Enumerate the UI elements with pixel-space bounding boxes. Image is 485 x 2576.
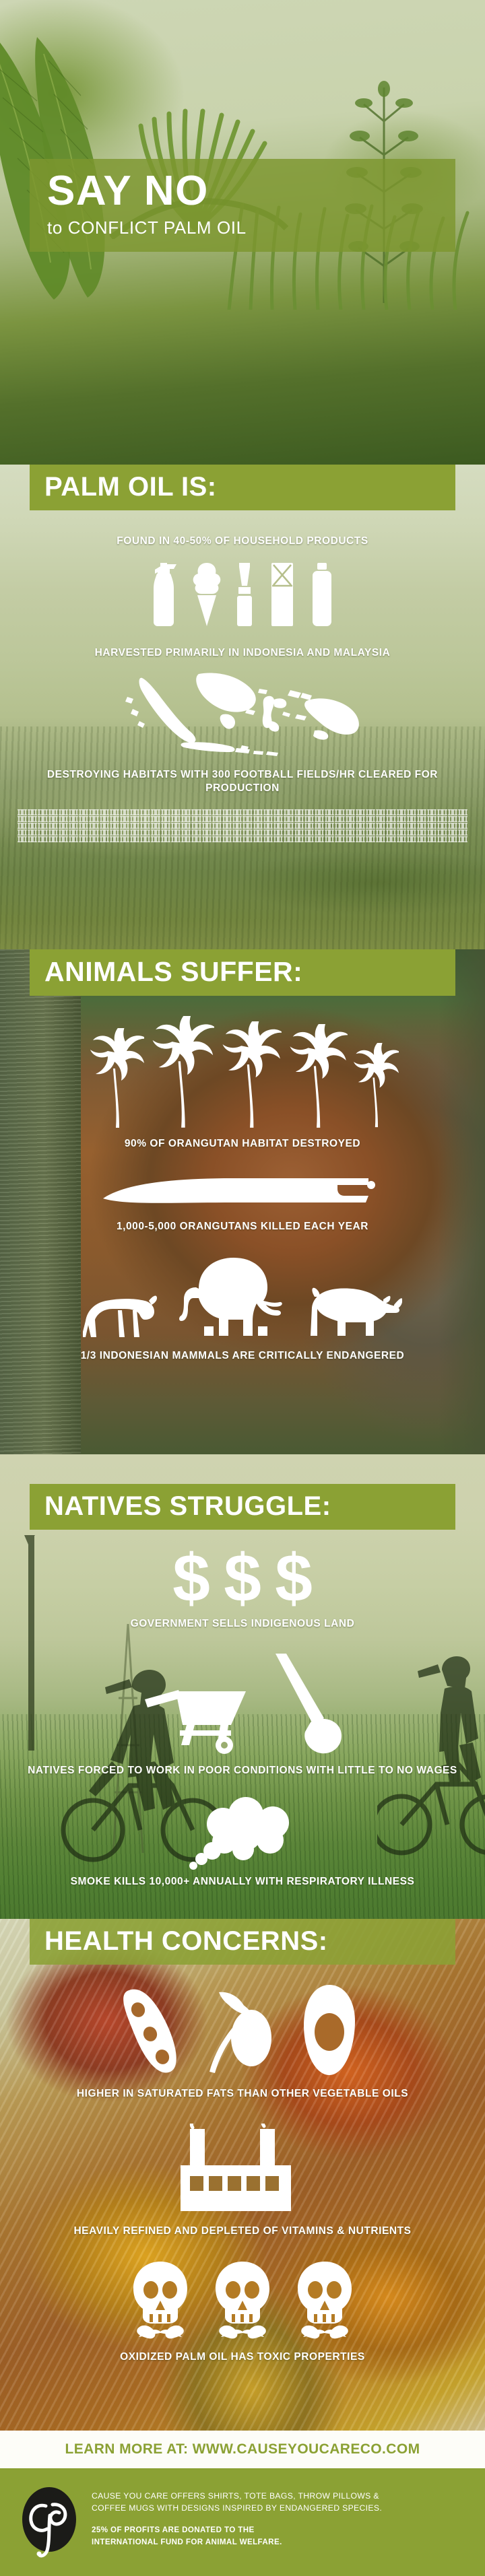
football-field-cell <box>273 816 283 822</box>
icon-row-palm-trees <box>0 1016 485 1129</box>
football-field-cell <box>437 809 447 815</box>
icon-row-dollar-signs: $ $ $ <box>0 1546 485 1611</box>
football-field-cell <box>356 816 365 822</box>
football-field-cell <box>458 809 467 815</box>
football-field-cell <box>130 836 139 842</box>
football-field-cell <box>191 816 201 822</box>
football-field-cell <box>140 816 150 822</box>
section-natives-struggle: NATIVES STRUGGLE: $ $ $ GOVERNMENT SELLS… <box>0 1454 485 1919</box>
football-field-cell <box>448 823 457 829</box>
shampoo-bottle-icon <box>309 563 335 628</box>
hero-subtitle: to CONFLICT PALM OIL <box>47 217 455 238</box>
machete-icon <box>98 1172 387 1209</box>
football-field-cell <box>294 816 304 822</box>
football-field-cell <box>79 836 88 842</box>
football-field-cell <box>232 823 242 829</box>
football-field-cell <box>28 829 37 836</box>
icon-row-machete <box>0 1172 485 1209</box>
football-field-cell <box>69 809 78 815</box>
football-field-cell <box>171 836 181 842</box>
football-field-cell <box>417 829 426 836</box>
football-field-cell <box>304 809 314 815</box>
football-field-cell <box>181 829 191 836</box>
football-field-cell <box>346 816 355 822</box>
fact-text-saturated-fats: HIGHER IN SATURATED FATS THAN OTHER VEGE… <box>0 2087 485 2101</box>
lipstick-icon <box>233 563 256 628</box>
avocado-icon <box>293 1984 367 2078</box>
football-field-cell <box>304 829 314 836</box>
football-field-cell <box>79 823 88 829</box>
fact-text-destroying-habitats: DESTROYING HABITATS WITH 300 FOOTBALL FI… <box>0 768 485 796</box>
football-field-cell <box>386 816 395 822</box>
football-field-cell <box>315 823 324 829</box>
football-field-cell <box>273 809 283 815</box>
football-field-cell <box>18 816 27 822</box>
football-field-cell <box>181 823 191 829</box>
football-field-cell <box>232 836 242 842</box>
football-field-cell <box>304 836 314 842</box>
section-animals-suffer: ANIMALS SUFFER: <box>0 949 485 1454</box>
football-field-cell <box>191 809 201 815</box>
footer-line-2: COFFEE MUGS WITH DESIGNS INSPIRED BY END… <box>92 2502 382 2514</box>
football-field-cell <box>356 823 365 829</box>
fact-text-forced-labor: NATIVES FORCED TO WORK IN POOR CONDITION… <box>0 1764 485 1777</box>
football-field-cell <box>284 836 293 842</box>
football-field-cell <box>232 829 242 836</box>
svg-text:$: $ <box>224 1546 261 1611</box>
fact-text-harvested: HARVESTED PRIMARILY IN INDONESIA AND MAL… <box>0 646 485 660</box>
olive-icon <box>205 1987 280 2074</box>
football-field-cell <box>243 809 252 815</box>
cause-you-care-logo-icon <box>20 2486 78 2560</box>
football-field-cell <box>427 836 437 842</box>
football-field-cell <box>120 809 129 815</box>
football-field-cell <box>458 823 467 829</box>
football-field-cell <box>100 816 109 822</box>
palm-tree-icon <box>350 1043 399 1129</box>
skull-crossbones-icon <box>209 2259 276 2340</box>
football-field-cell <box>130 823 139 829</box>
football-field-cell <box>417 809 426 815</box>
football-field-cell <box>202 823 212 829</box>
football-field-cell <box>417 816 426 822</box>
football-field-cell <box>130 829 139 836</box>
football-field-cell <box>376 816 385 822</box>
fact-text-toxic-properties: OXIDIZED PALM OIL HAS TOXIC PROPERTIES <box>0 2350 485 2364</box>
dollar-sign-icon: $ <box>219 1546 266 1611</box>
football-field-cell <box>376 809 385 815</box>
football-field-cell <box>151 829 160 836</box>
football-field-cell <box>222 836 232 842</box>
hero-section: SAY NO to CONFLICT PALM OIL <box>0 0 485 465</box>
football-field-cell <box>151 809 160 815</box>
football-field-cell <box>202 836 212 842</box>
section-palm-oil-is: PALM OIL IS: FOUND IN 40-50% OF HOUSEHOL… <box>0 465 485 949</box>
football-field-cell <box>79 809 88 815</box>
football-field-cell <box>263 829 273 836</box>
football-field-cell <box>212 816 222 822</box>
football-field-cell <box>366 823 375 829</box>
football-field-cell <box>191 829 201 836</box>
football-field-cell <box>366 816 375 822</box>
football-field-cell <box>253 836 263 842</box>
football-field-cell <box>222 816 232 822</box>
football-field-cell <box>284 823 293 829</box>
football-field-cell <box>69 823 78 829</box>
fact-text-orangutan-habitat: 90% OF ORANGUTAN HABITAT DESTROYED <box>0 1137 485 1151</box>
football-field-cell <box>89 829 98 836</box>
football-field-cell <box>366 829 375 836</box>
football-field-cell <box>100 836 109 842</box>
football-field-cell <box>120 816 129 822</box>
learn-more-bar: LEARN MORE AT: WWW.CAUSEYOUCARECO.COM <box>0 2431 485 2468</box>
football-field-cell <box>253 809 263 815</box>
football-field-cell <box>263 816 273 822</box>
football-field-cell <box>171 823 181 829</box>
football-field-cell <box>315 836 324 842</box>
football-field-cell <box>294 823 304 829</box>
hero-title-banner: SAY NO to CONFLICT PALM OIL <box>30 159 455 252</box>
football-field-cell <box>100 823 109 829</box>
football-field-cell <box>448 816 457 822</box>
football-field-cell <box>386 809 395 815</box>
palm-tree-icon <box>284 1024 348 1129</box>
elephant-icon <box>179 1254 286 1341</box>
football-field-cell <box>427 823 437 829</box>
football-field-cell <box>243 816 252 822</box>
football-field-cell <box>356 836 365 842</box>
football-field-cell <box>458 816 467 822</box>
footer: CAUSE YOU CARE OFFERS SHIRTS, TOTE BAGS,… <box>0 2468 485 2576</box>
football-field-cell <box>79 829 88 836</box>
learn-more-url[interactable]: LEARN MORE AT: WWW.CAUSEYOUCARECO.COM <box>0 2441 485 2458</box>
football-field-cell <box>110 829 119 836</box>
football-field-cell <box>120 836 129 842</box>
football-field-cell <box>263 836 273 842</box>
football-field-cell <box>397 829 406 836</box>
section-heading-palm-oil-is: PALM OIL IS: <box>30 465 455 510</box>
football-field-cell <box>140 823 150 829</box>
section-heading-natives-struggle: NATIVES STRUGGLE: <box>30 1484 455 1530</box>
football-field-cell <box>110 816 119 822</box>
football-field-cell <box>38 829 47 836</box>
football-field-cell <box>407 823 416 829</box>
football-field-cell <box>171 816 181 822</box>
football-field-cell <box>59 829 68 836</box>
footer-text-block: CAUSE YOU CARE OFFERS SHIRTS, TOTE BAGS,… <box>92 2486 382 2548</box>
football-field-cell <box>191 823 201 829</box>
football-field-cell <box>253 823 263 829</box>
football-field-cell <box>161 836 170 842</box>
football-field-cell <box>253 829 263 836</box>
football-field-cell <box>69 829 78 836</box>
football-field-cell <box>100 809 109 815</box>
football-field-cell <box>140 836 150 842</box>
dollar-sign-icon: $ <box>270 1546 317 1611</box>
svg-text:$: $ <box>172 1546 210 1611</box>
football-field-cell <box>325 823 334 829</box>
football-field-cell <box>89 836 98 842</box>
icon-row-smoke-cloud <box>0 1796 485 1870</box>
football-field-cell <box>294 809 304 815</box>
football-field-cell <box>335 823 344 829</box>
football-field-cell <box>38 836 47 842</box>
football-field-cell <box>18 823 27 829</box>
football-field-cell <box>335 836 344 842</box>
football-field-cell <box>59 816 68 822</box>
icon-row-other-oils <box>0 1984 485 2078</box>
football-field-cell <box>273 836 283 842</box>
skull-crossbones-icon <box>127 2259 194 2340</box>
football-field-cell <box>28 809 37 815</box>
football-field-cell <box>38 816 47 822</box>
football-field-cell <box>212 829 222 836</box>
football-field-cell <box>273 823 283 829</box>
football-field-cell <box>69 816 78 822</box>
football-field-cell <box>171 809 181 815</box>
football-field-cell <box>407 829 416 836</box>
football-field-cell <box>202 809 212 815</box>
football-field-cell <box>48 823 58 829</box>
football-field-cell <box>294 829 304 836</box>
football-field-cell <box>232 809 242 815</box>
football-field-cell <box>335 829 344 836</box>
football-field-cell <box>407 816 416 822</box>
football-field-cell <box>48 816 58 822</box>
football-field-cell <box>161 809 170 815</box>
football-field-cell <box>448 829 457 836</box>
football-field-cell <box>59 836 68 842</box>
football-field-cell <box>243 829 252 836</box>
football-field-cell <box>243 836 252 842</box>
football-field-cell <box>38 823 47 829</box>
football-field-cell <box>346 829 355 836</box>
football-field-cell <box>325 836 334 842</box>
football-field-cell <box>89 823 98 829</box>
football-field-cell <box>437 816 447 822</box>
football-field-cell <box>437 836 447 842</box>
football-field-cell <box>110 836 119 842</box>
football-field-cell <box>427 816 437 822</box>
football-field-cell <box>110 823 119 829</box>
football-field-cell <box>191 836 201 842</box>
football-field-cell <box>222 829 232 836</box>
football-field-cell <box>458 829 467 836</box>
football-field-cell <box>346 823 355 829</box>
factory-icon <box>175 2124 310 2218</box>
fact-text-heavily-refined: HEAVILY REFINED AND DEPLETED OF VITAMINS… <box>0 2225 485 2238</box>
section-heading-health-concerns: HEALTH CONCERNS: <box>30 1919 455 1965</box>
football-field-cell <box>202 816 212 822</box>
football-field-cell <box>407 809 416 815</box>
skull-crossbones-icon <box>291 2259 358 2340</box>
fact-text-orangutans-killed: 1,000-5,000 ORANGUTANS KILLED EACH YEAR <box>0 1220 485 1233</box>
football-field-cell <box>386 829 395 836</box>
fact-text-smoke-kills: SMOKE KILLS 10,000+ ANNUALLY WITH RESPIR… <box>0 1875 485 1889</box>
football-field-cell <box>243 823 252 829</box>
football-field-cell <box>315 829 324 836</box>
tiger-icon <box>83 1283 157 1341</box>
football-field-cell <box>448 809 457 815</box>
footer-line-4: INTERNATIONAL FUND FOR ANIMAL WELFARE. <box>92 2536 382 2548</box>
football-field-cell <box>38 809 47 815</box>
football-field-cell <box>130 809 139 815</box>
icon-row-factory <box>0 2124 485 2218</box>
spray-bottle-icon <box>150 563 181 628</box>
football-field-cell <box>325 809 334 815</box>
football-field-cell <box>110 809 119 815</box>
football-field-cell <box>304 816 314 822</box>
football-field-cell <box>437 823 447 829</box>
football-field-cell <box>161 823 170 829</box>
football-field-cell <box>28 816 37 822</box>
football-field-cell <box>346 836 355 842</box>
football-field-cell <box>89 816 98 822</box>
football-field-cell <box>181 836 191 842</box>
fact-text-government-sells-land: GOVERNMENT SELLS INDIGENOUS LAND <box>0 1617 485 1631</box>
football-field-cell <box>89 809 98 815</box>
football-field-cell <box>140 829 150 836</box>
fact-text-indonesian-mammals: 1/3 INDONESIAN MAMMALS ARE CRITICALLY EN… <box>0 1349 485 1363</box>
football-field-cell <box>304 823 314 829</box>
football-field-cell <box>130 816 139 822</box>
fact-text-household-products: FOUND IN 40-50% OF HOUSEHOLD PRODUCTS <box>0 535 485 548</box>
football-field-cell <box>407 836 416 842</box>
football-field-cell <box>140 809 150 815</box>
football-field-cell <box>346 809 355 815</box>
soybean-pod-icon <box>118 1987 192 2074</box>
football-field-cell <box>325 816 334 822</box>
icon-row-endangered-mammals <box>0 1254 485 1341</box>
football-field-cell <box>151 836 160 842</box>
football-field-cell <box>315 816 324 822</box>
football-field-cell <box>151 823 160 829</box>
football-field-cell <box>28 836 37 842</box>
ice-cream-cone-icon <box>191 563 222 628</box>
football-field-cell <box>325 829 334 836</box>
football-field-cell <box>263 823 273 829</box>
football-field-cell <box>417 836 426 842</box>
football-field-cell <box>284 816 293 822</box>
football-field-cell <box>253 816 263 822</box>
football-field-cell <box>273 829 283 836</box>
football-field-cell <box>417 823 426 829</box>
football-field-cell <box>48 829 58 836</box>
football-field-cell <box>427 809 437 815</box>
football-field-cell <box>18 809 27 815</box>
football-field-cell <box>263 809 273 815</box>
football-field-cell <box>366 809 375 815</box>
football-field-cell <box>376 829 385 836</box>
section-health-concerns: HEALTH CONCERNS: <box>0 1919 485 2431</box>
football-field-cell <box>356 829 365 836</box>
football-field-cell <box>212 836 222 842</box>
palm-tree-icon <box>86 1028 144 1129</box>
section-heading-animals-suffer: ANIMALS SUFFER: <box>30 949 455 996</box>
football-field-cell <box>458 836 467 842</box>
football-field-cell <box>315 809 324 815</box>
football-field-cell <box>335 809 344 815</box>
football-field-cell <box>161 816 170 822</box>
football-field-cell <box>366 836 375 842</box>
svg-text:$: $ <box>275 1546 313 1611</box>
smoke-cloud-icon <box>172 1796 313 1870</box>
football-field-cell <box>100 829 109 836</box>
footer-line-3: 25% OF PROFITS ARE DONATED TO THE <box>92 2524 382 2536</box>
football-field-cell <box>171 829 181 836</box>
icon-row-wheelbarrow-shovel <box>0 1654 485 1755</box>
football-field-cell <box>222 823 232 829</box>
football-field-cell <box>284 829 293 836</box>
football-field-cell <box>120 823 129 829</box>
football-field-cell <box>181 809 191 815</box>
icon-row-indonesia-map <box>0 670 485 757</box>
palm-tree-icon <box>217 1021 282 1129</box>
icon-row-household-products <box>0 563 485 628</box>
football-field-cell <box>151 816 160 822</box>
football-field-cell <box>18 836 27 842</box>
football-field-cell <box>427 829 437 836</box>
dollar-sign-icon: $ <box>168 1546 215 1611</box>
football-field-cell <box>397 836 406 842</box>
football-field-cell <box>48 836 58 842</box>
rhino-icon <box>308 1279 402 1341</box>
footer-line-1: CAUSE YOU CARE OFFERS SHIRTS, TOTE BAGS,… <box>92 2490 382 2502</box>
football-field-cell <box>212 823 222 829</box>
football-field-cell <box>79 816 88 822</box>
football-field-cell <box>69 836 78 842</box>
football-field-cell <box>437 829 447 836</box>
football-field-cell <box>161 829 170 836</box>
football-field-grid-icon <box>0 809 485 842</box>
football-field-cell <box>28 823 37 829</box>
football-field-cell <box>294 836 304 842</box>
football-field-cell <box>386 823 395 829</box>
hero-title: SAY NO <box>47 171 455 212</box>
football-field-cell <box>212 809 222 815</box>
football-field-cell <box>59 809 68 815</box>
football-field-cell <box>397 809 406 815</box>
football-field-cell <box>397 823 406 829</box>
football-field-cell <box>386 836 395 842</box>
soap-box-icon <box>267 563 298 628</box>
football-field-cell <box>232 816 242 822</box>
shovel-icon <box>271 1654 346 1755</box>
football-field-cell <box>356 809 365 815</box>
icon-row-skulls <box>0 2259 485 2340</box>
football-field-cell <box>181 816 191 822</box>
football-field-cell <box>335 816 344 822</box>
football-field-cell <box>222 809 232 815</box>
wheelbarrow-icon <box>139 1681 254 1755</box>
football-field-cell <box>448 836 457 842</box>
football-field-cell <box>284 809 293 815</box>
football-field-cell <box>202 829 212 836</box>
football-field-cell <box>48 809 58 815</box>
indonesia-map-icon <box>98 670 387 757</box>
football-field-cell <box>120 829 129 836</box>
palm-tree-icon <box>147 1016 214 1129</box>
football-field-cell <box>376 836 385 842</box>
football-field-cell <box>397 816 406 822</box>
football-field-cell <box>59 823 68 829</box>
football-field-cell <box>18 829 27 836</box>
football-field-cell <box>376 823 385 829</box>
infographic-poster: SAY NO to CONFLICT PALM OIL PALM OIL IS:… <box>0 0 485 2576</box>
